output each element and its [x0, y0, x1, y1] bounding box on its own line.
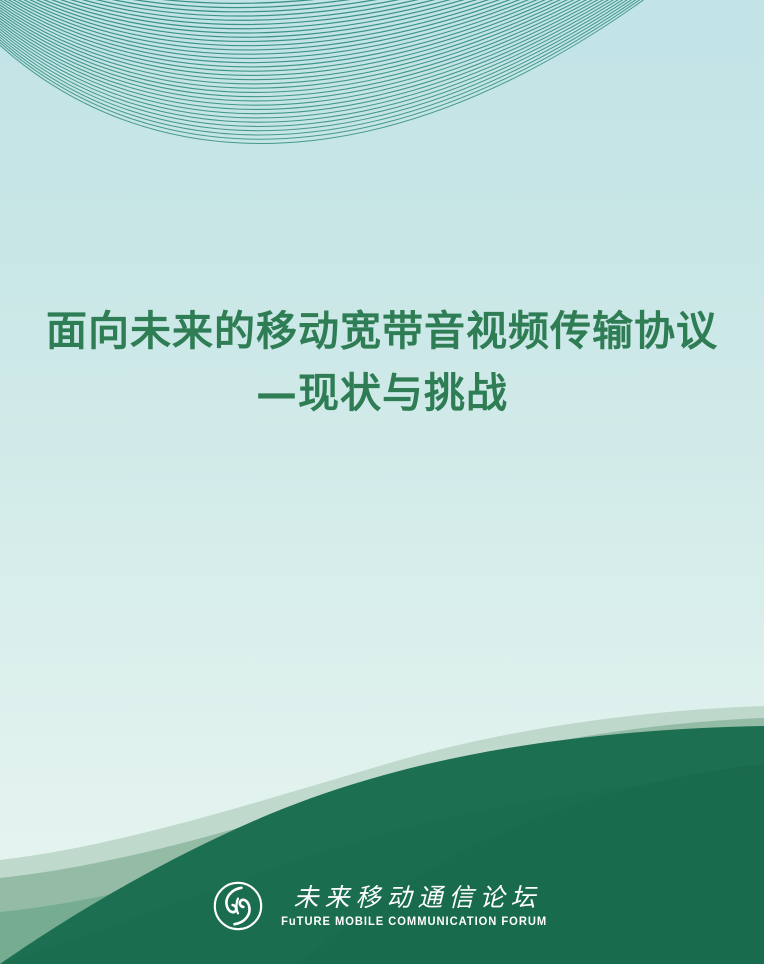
hill-layer-band — [0, 776, 764, 964]
organization-logo-lockup: 未来移动通信论坛 FuTURE MOBILE COMMUNICATION FOR… — [0, 880, 764, 932]
wave-line — [0, 0, 764, 92]
wave-line — [0, 0, 764, 29]
wave-line — [0, 0, 764, 88]
wave-line — [0, 0, 764, 139]
wave-line — [0, 0, 764, 71]
cover-title-block: 面向未来的移动宽带音视频传输协议 —现状与挑战 — [0, 300, 764, 424]
wave-line — [0, 0, 764, 80]
wave-line — [0, 0, 764, 58]
wave-line — [0, 0, 764, 8]
wave-line — [0, 0, 764, 50]
wave-line — [0, 0, 764, 143]
logo-wordmark: 未来移动通信论坛 FuTURE MOBILE COMMUNICATION FOR… — [277, 883, 551, 929]
wave-line — [0, 0, 764, 105]
hill-layer-shadow — [300, 764, 764, 964]
wave-line — [0, 0, 764, 122]
wave-line — [0, 0, 764, 114]
wave-line — [0, 0, 764, 54]
logo-chinese-name: 未来移动通信论坛 — [287, 883, 541, 912]
page-title-line-1: 面向未来的移动宽带音视频传输协议 — [26, 300, 738, 362]
wave-line — [0, 0, 764, 75]
wave-line — [0, 0, 764, 109]
wave-line — [0, 0, 764, 67]
wave-line — [0, 0, 764, 37]
wave-line — [0, 0, 764, 33]
wave-line — [0, 0, 764, 101]
wave-line — [0, 0, 764, 63]
wave-line — [0, 0, 764, 46]
page-title-line-2: —现状与挑战 — [26, 362, 738, 424]
wave-line — [0, 0, 764, 24]
wave-line — [0, 0, 764, 135]
logo-english-name: FuTURE MOBILE COMMUNICATION FORUM — [281, 915, 547, 929]
wave-line — [0, 0, 764, 97]
wave-line — [0, 0, 764, 126]
wave-line — [0, 0, 764, 12]
wave-line — [0, 0, 764, 20]
top-wave-line-pattern — [0, 0, 764, 230]
wave-line — [0, 0, 764, 131]
document-cover: 面向未来的移动宽带音视频传输协议 —现状与挑战 未来移动通信论坛 FuTURE … — [0, 0, 764, 964]
swirl-circle-icon — [212, 880, 264, 932]
wave-line — [0, 0, 764, 41]
wave-line — [0, 0, 764, 118]
wave-line — [0, 0, 764, 16]
wave-line — [0, 0, 764, 84]
wave-line — [0, 0, 764, 3]
